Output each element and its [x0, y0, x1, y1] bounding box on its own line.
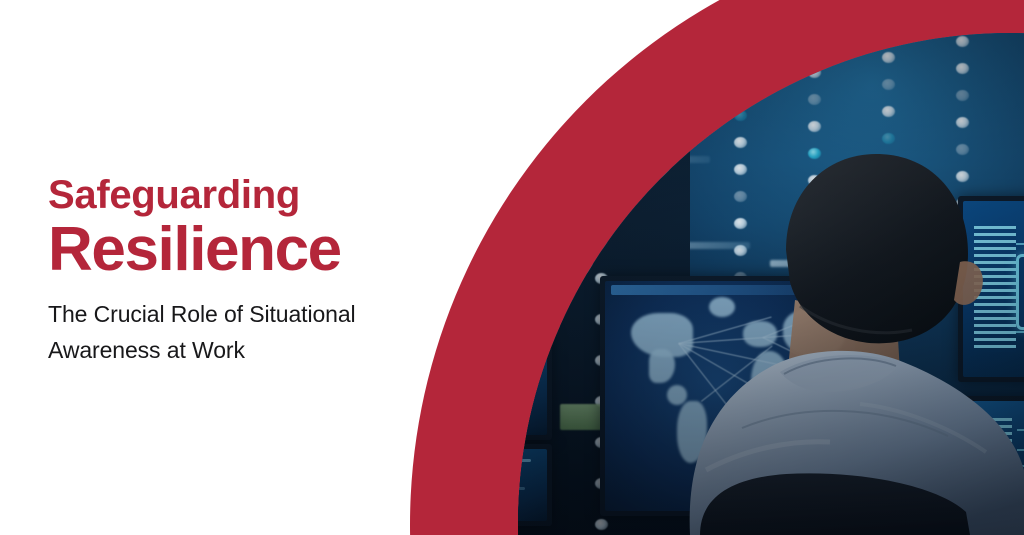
headline-line-one: Safeguarding: [48, 172, 468, 218]
subheadline: The Crucial Role of Situational Awarenes…: [48, 296, 438, 368]
headline-block: Safeguarding Resilience The Crucial Role…: [48, 172, 468, 368]
banner: Safeguarding Resilience The Crucial Role…: [0, 0, 1024, 535]
headline-line-two: Resilience: [48, 218, 468, 282]
